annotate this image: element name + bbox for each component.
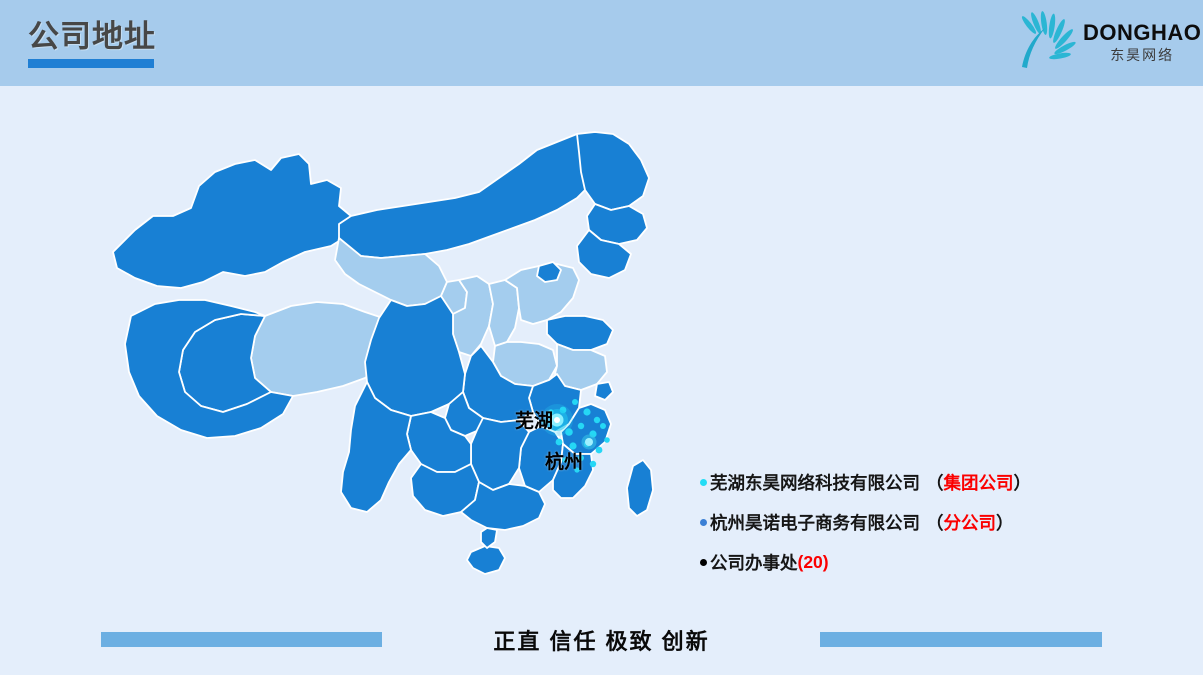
title-underline-accent [28,59,154,68]
logo-name: DONGHAO [1083,20,1201,45]
legend-tag-open-0: （ [926,470,944,495]
hangzhou-marker [582,435,597,450]
province-sichuan [365,296,465,416]
legend-tag-close-0: ） [1014,470,1032,495]
legend-tag-branch-company: 分公司 [944,510,997,535]
legend-label-group-company: 芜湖东昊网络科技有限公司 [710,470,920,495]
page-header: 公司地址 DONGHAO 东昊网络 [0,0,1203,86]
page-title-group: 公司地址 [28,18,156,68]
legend-item-group-company: 芜湖东昊网络科技有限公司 （ 集团公司 ） [700,462,1120,502]
province-xinjiang [113,154,351,288]
legend-list: 芜湖东昊网络科技有限公司 （ 集团公司 ） 杭州昊诺电子商务有限公司 （ 分公司… [700,462,1120,582]
legend-tag-close-1: ） [996,510,1014,535]
china-map[interactable]: 芜湖 杭州 [95,120,715,620]
logo-subtitle: 东昊网络 [1083,46,1201,64]
legend-bullet-black [700,559,707,566]
province-shanxi [489,280,519,346]
peninsula-leizhou [481,528,497,548]
map-label-wuhu: 芜湖 [515,406,553,433]
legend-label-offices: 公司办事处 [710,550,798,575]
logo-text-group: DONGHAO 东昊网络 [1083,21,1201,64]
province-shanghai [595,382,613,400]
legend-bullet-cyan [700,479,707,486]
legend-label-branch-company: 杭州昊诺电子商务有限公司 [710,510,920,535]
legend-bullet-blue [700,519,707,526]
legend-tag-office-count: 20 [803,552,822,573]
province-hainan [467,546,505,574]
map-label-hangzhou: 杭州 [545,447,583,474]
legend-item-branch-company: 杭州昊诺电子商务有限公司 （ 分公司 ） [700,502,1120,542]
province-inner-mongolia [339,132,607,258]
province-heilongjiang [577,132,649,210]
legend-item-offices: 公司办事处 ( 20 ) [700,542,1120,582]
legend-tag-open-1: （ [926,510,944,535]
footer-bar-right [820,632,1102,647]
company-logo: DONGHAO 东昊网络 [1015,8,1191,76]
page-title: 公司地址 [28,18,156,56]
legend-tag-close-2: ) [823,552,829,573]
province-taiwan [627,460,653,516]
donghao-feather-logo-icon [1015,11,1081,73]
legend-tag-group-company: 集团公司 [944,470,1014,495]
